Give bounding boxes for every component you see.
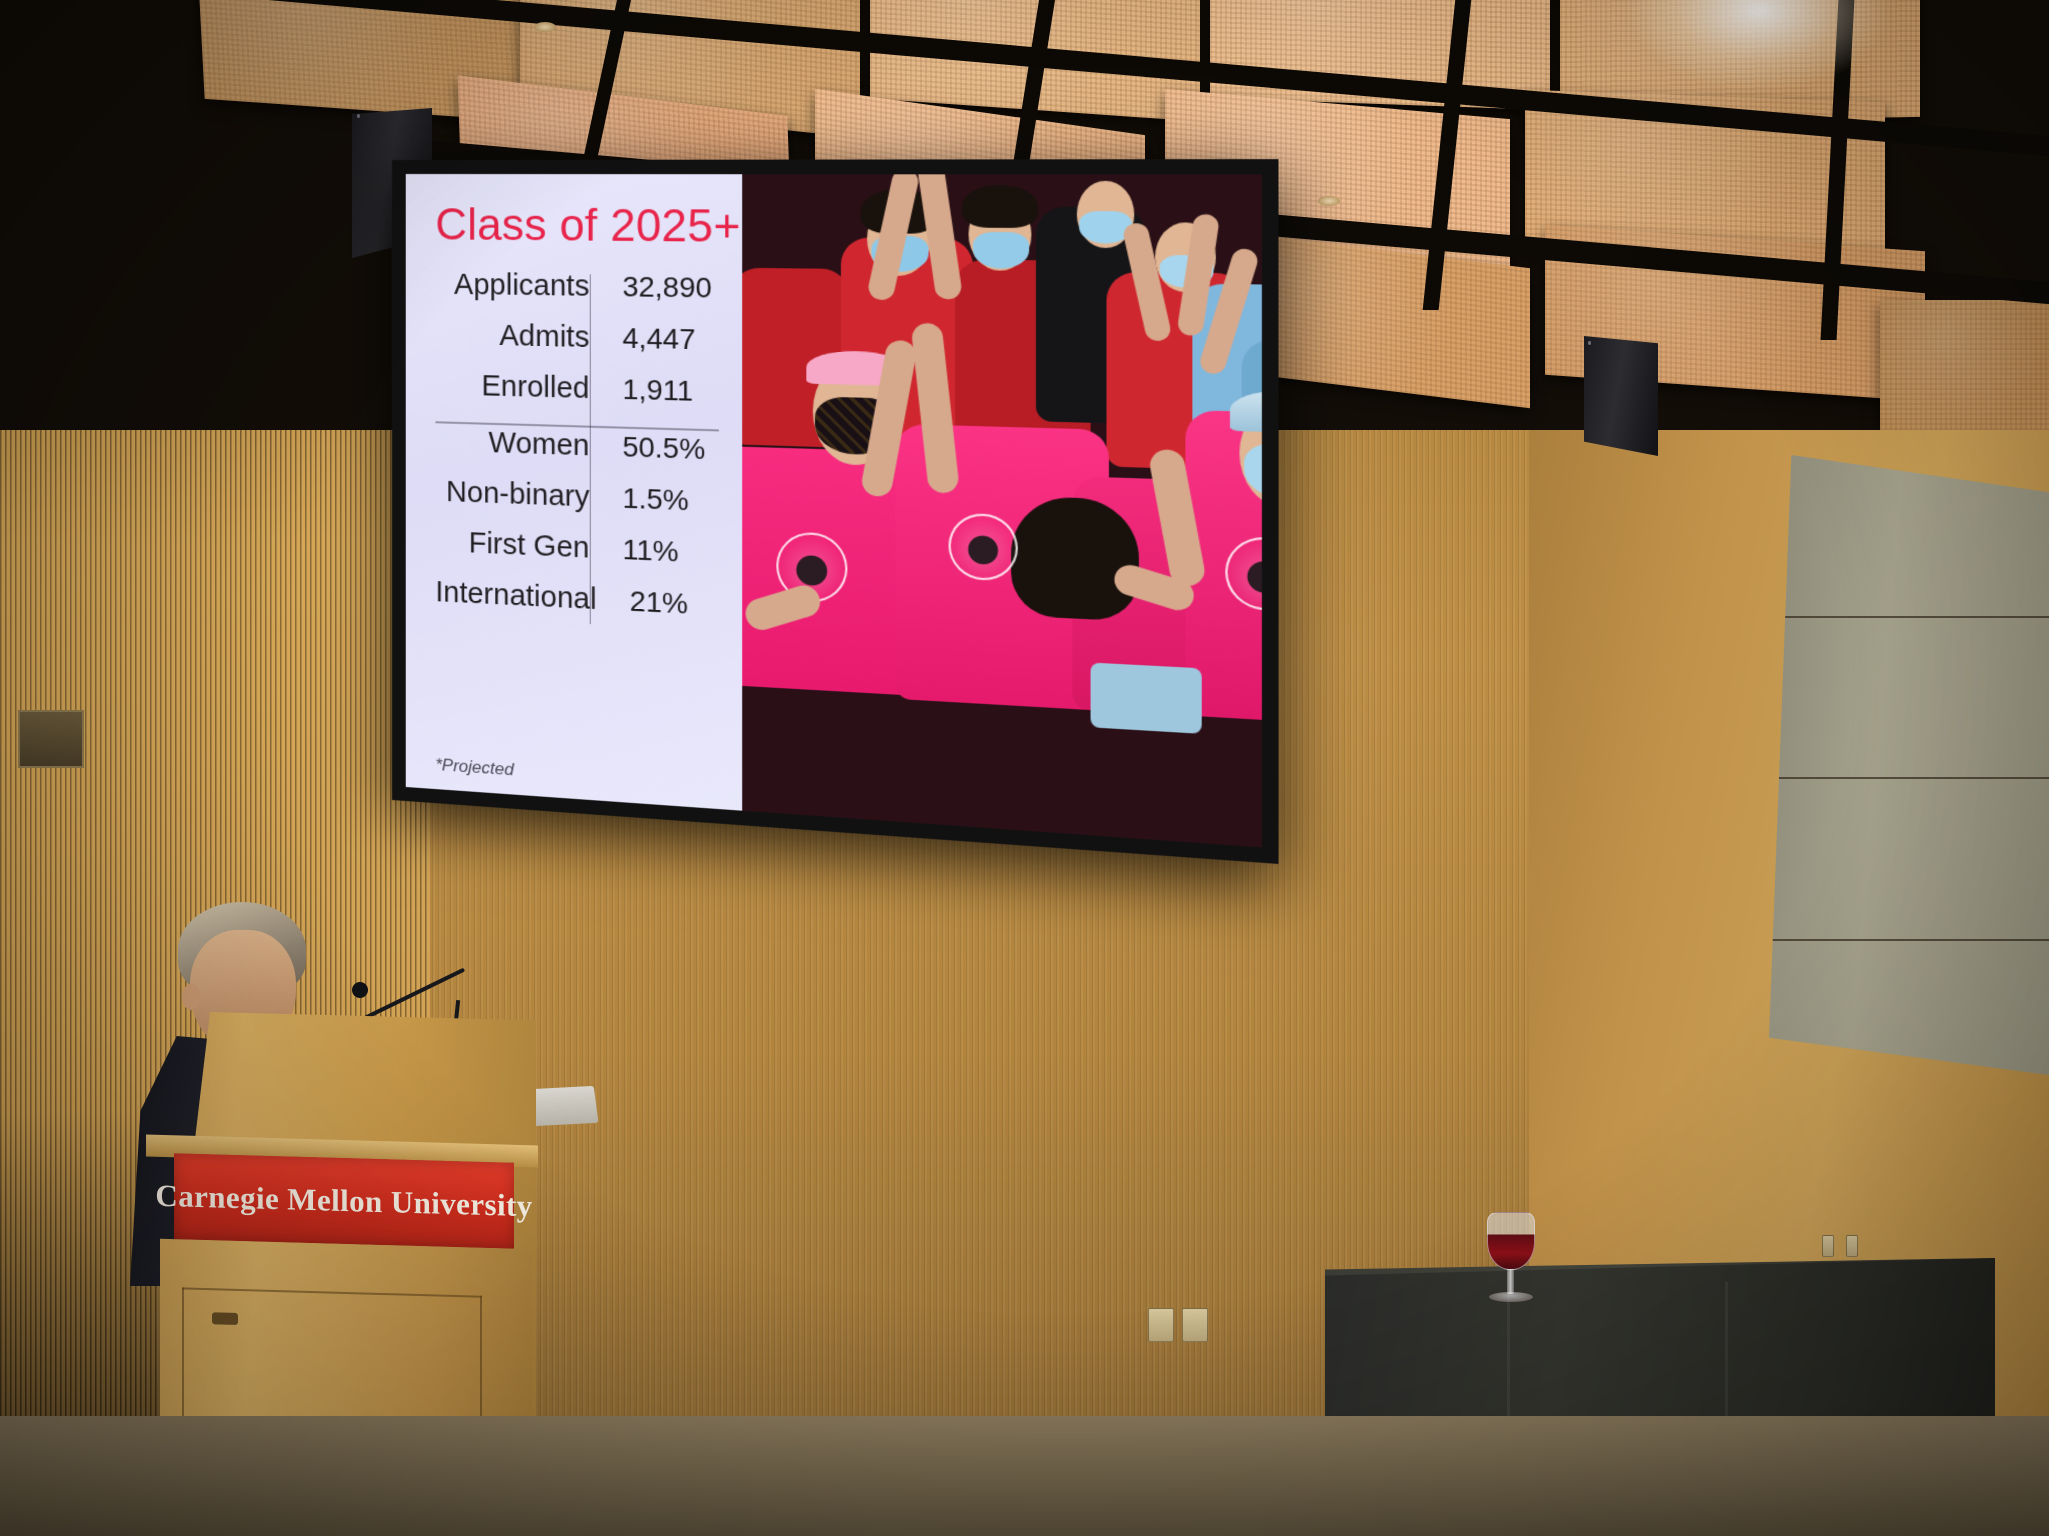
- stat-label-admits: Admits: [435, 319, 605, 356]
- stat-label-international: International: [435, 576, 613, 618]
- slide-footnote: *Projected: [435, 755, 513, 781]
- wall-plaque: [18, 710, 84, 768]
- stat-label-first-gen: First Gen: [435, 525, 605, 566]
- podium-sign-text: Carnegie Mellon University: [155, 1178, 532, 1225]
- podium-sign: Carnegie Mellon University: [174, 1153, 514, 1248]
- wine-glass-stem: [1507, 1268, 1514, 1294]
- slide-stats-panel: Class of 2025+ Applicants 32,890 Admits …: [406, 174, 742, 811]
- stat-value-enrolled: 1,911: [606, 373, 719, 409]
- lecture-hall-scene: Class of 2025+ Applicants 32,890 Admits …: [0, 0, 2049, 1536]
- slide-title: Class of 2025+: [435, 200, 718, 253]
- stat-value-international: 21%: [613, 584, 718, 622]
- ceiling-light-glare: [1629, 0, 1889, 90]
- crowd-hair: [1011, 496, 1139, 622]
- stat-value-first-gen: 11%: [606, 532, 719, 570]
- table-row: Applicants 32,890: [435, 268, 718, 323]
- stat-value-applicants: 32,890: [606, 270, 719, 304]
- downlight: [1318, 196, 1340, 206]
- stats-table: Applicants 32,890 Admits 4,447 Enrolled …: [435, 268, 718, 640]
- table-row: Enrolled 1,911: [435, 369, 718, 427]
- table-vertical-rule: [589, 274, 591, 623]
- podium-seam: [182, 1287, 482, 1297]
- stat-label-applicants: Applicants: [435, 268, 605, 304]
- podium-seam: [212, 1312, 238, 1325]
- crowd-face-mask: [973, 232, 1029, 269]
- crowd-hair: [961, 185, 1037, 228]
- right-acoustic-panel-stack: [1769, 455, 2049, 1075]
- stat-value-admits: 4,447: [606, 322, 719, 357]
- downlight: [534, 22, 556, 32]
- projection-screen: Class of 2025+ Applicants 32,890 Admits …: [392, 159, 1279, 864]
- floor: [0, 1416, 2049, 1536]
- wall-outlet-left: [1148, 1308, 1174, 1342]
- crowd-illustration: [742, 174, 1262, 847]
- stat-label-women: Women: [435, 425, 605, 464]
- stat-label-enrolled: Enrolled: [435, 369, 605, 407]
- microphone-head: [352, 982, 368, 998]
- presenter-ear: [182, 984, 200, 1010]
- table-row: Admits 4,447: [435, 319, 718, 376]
- table-outlet-b: [1846, 1235, 1858, 1257]
- stat-label-non-binary: Non-binary: [435, 475, 605, 515]
- stat-value-non-binary: 1.5%: [606, 481, 719, 518]
- slide-photo-crowd: [742, 174, 1262, 847]
- screen-display: Class of 2025+ Applicants 32,890 Admits …: [406, 174, 1262, 847]
- ceiling-panel: [1880, 300, 2049, 430]
- loudspeaker-right: [1584, 336, 1658, 456]
- wall-outlet-right: [1182, 1308, 1208, 1342]
- crowd-shorts: [1090, 662, 1201, 733]
- wine-glass-bowl: [1487, 1212, 1535, 1270]
- stat-value-women: 50.5%: [606, 430, 719, 466]
- table-outlet-a: [1822, 1235, 1834, 1257]
